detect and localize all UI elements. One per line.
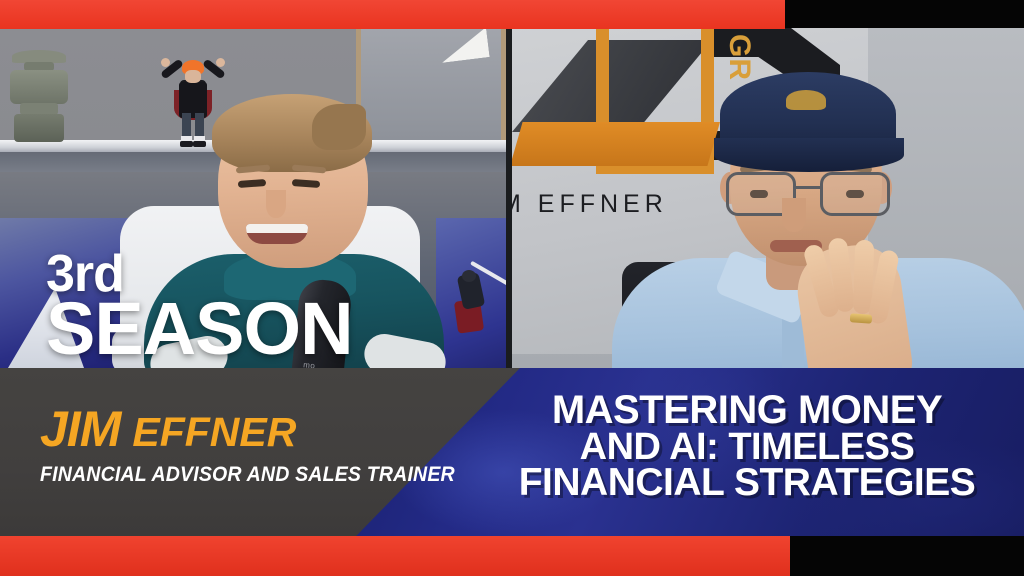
video-thumbnail-canvas: GR M EFFNER: [0, 0, 1024, 576]
top-accent-bar: [0, 0, 785, 29]
anime-figurine-decor-secondary: [452, 266, 504, 346]
glasses-icon: [724, 172, 894, 216]
episode-title: MASTERING MONEY AND AI: TIMELESS FINANCI…: [470, 392, 1024, 502]
episode-title-line-3: FINANCIAL STRATEGIES: [470, 465, 1024, 502]
guest-person: [674, 68, 974, 368]
episode-title-line-1: MASTERING MONEY: [470, 392, 1024, 430]
guest-role: FINANCIAL ADVISOR AND SALES TRAINER: [40, 463, 412, 487]
season-badge: 3rd SEASON: [46, 252, 353, 360]
wedding-ring: [850, 313, 873, 324]
guest-name: JIMEFFNER: [40, 404, 440, 454]
backdrop-name-text: M EFFNER: [512, 190, 668, 219]
bottom-accent-bar: [0, 536, 790, 576]
guest-video-panel[interactable]: GR M EFFNER: [512, 28, 1024, 368]
guest-first-name: JIM: [40, 401, 120, 457]
stone-lantern-decor: [6, 50, 72, 142]
episode-title-line-2: AND AI: TIMELESS: [470, 430, 1024, 466]
guest-last-name: EFFNER: [132, 409, 296, 455]
panel-divider: [506, 28, 512, 368]
season-label: SEASON: [46, 297, 353, 361]
guest-identity-block: JIMEFFNER FINANCIAL ADVISOR AND SALES TR…: [40, 404, 440, 487]
host-hair: [212, 94, 372, 172]
